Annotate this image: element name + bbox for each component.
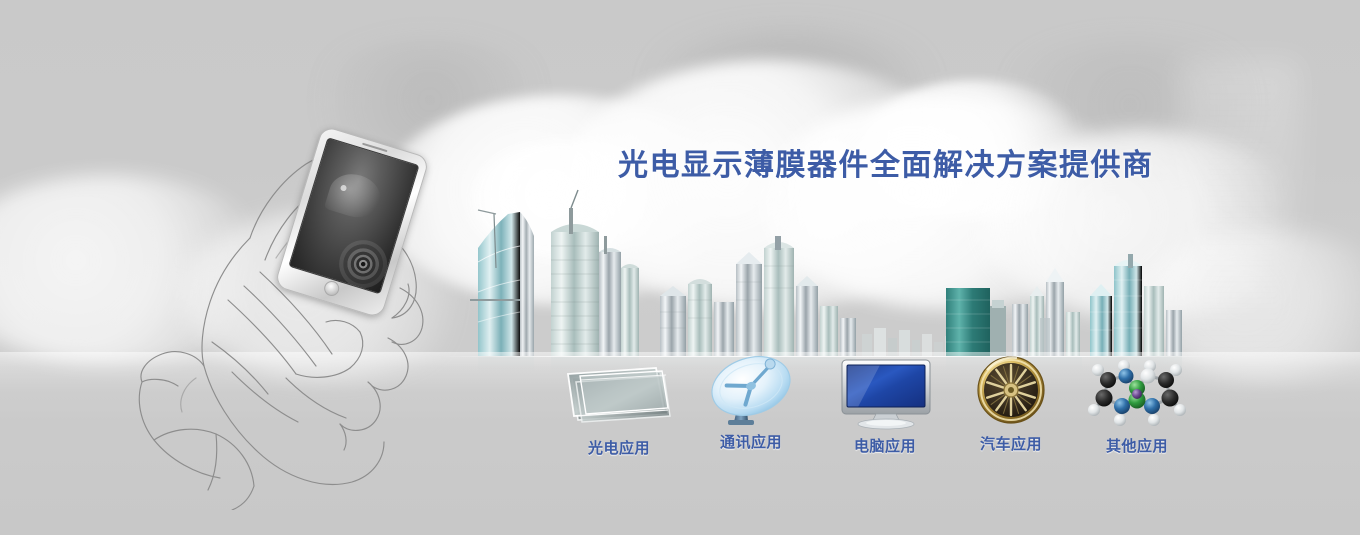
molecule-model-icon [1074, 356, 1200, 428]
screen-ripple-icon [333, 234, 393, 294]
application-label: 电脑应用 [822, 435, 948, 456]
application-item-other[interactable]: 其他应用 [1074, 356, 1200, 456]
computer-monitor-icon [822, 356, 948, 428]
application-label: 通讯应用 [688, 431, 814, 452]
application-item-automotive[interactable]: 汽车应用 [948, 354, 1074, 454]
satellite-dish-icon [688, 352, 814, 424]
application-label: 光电应用 [556, 437, 682, 458]
application-item-computer[interactable]: 电脑应用 [822, 356, 948, 456]
application-list: 光电应用 [556, 352, 1206, 470]
application-label: 其他应用 [1074, 435, 1200, 456]
car-wheel-rim-icon [948, 354, 1074, 426]
screen-highlight [324, 168, 386, 223]
application-item-optoelectronic[interactable]: 光电应用 [556, 358, 682, 458]
application-item-communication[interactable]: 通讯应用 [688, 352, 814, 452]
hand-sketch-icon [100, 110, 500, 510]
glass-panels-icon [556, 358, 682, 430]
banner-stage: 光电显示薄膜器件全面解决方案提供商 [0, 0, 1360, 535]
phone-home-button [322, 279, 341, 298]
page-title: 光电显示薄膜器件全面解决方案提供商 [618, 140, 1154, 184]
application-label: 汽车应用 [948, 433, 1074, 454]
